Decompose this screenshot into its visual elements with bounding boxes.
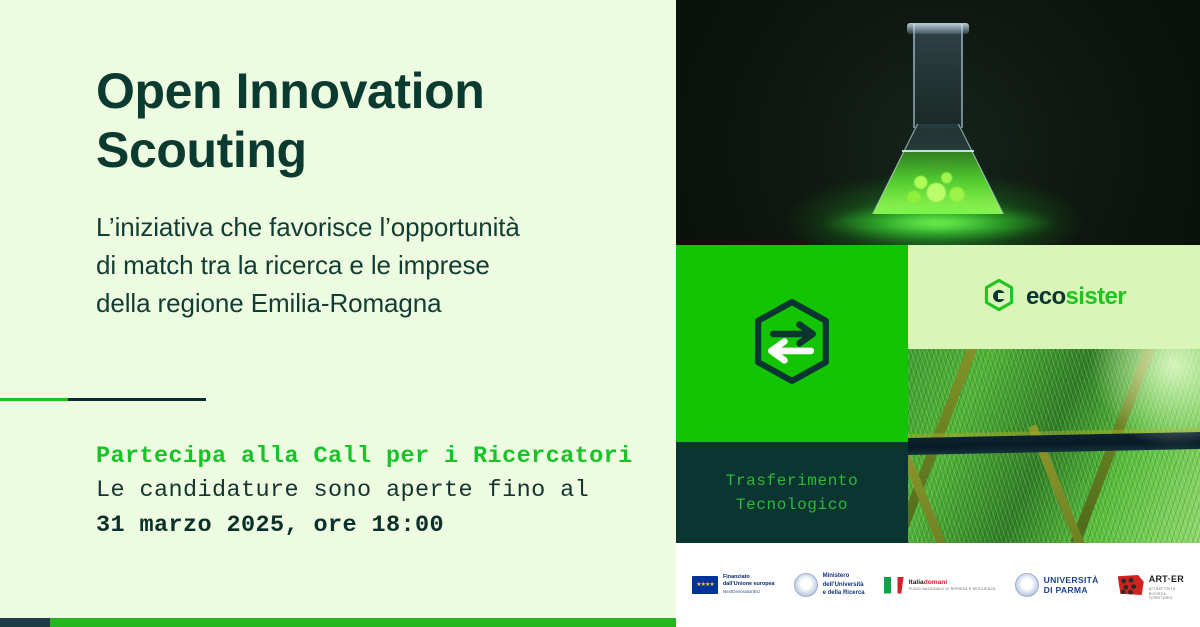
- media-panels-row: Trasferimento Tecnologico: [676, 245, 1200, 543]
- universita-di-parma-logo: UNIVERSITÀ DI PARMA: [1015, 573, 1099, 597]
- italia-domani-subtitle: PIANO NAZIONALE DI RIPRESA E RESILIENZA: [909, 587, 996, 591]
- eu-logo-line-1: Finanziato: [723, 574, 750, 580]
- flask-liquid-surface: [902, 150, 974, 152]
- eu-stars: ★★★★: [692, 576, 718, 594]
- italia-domani-logo: Italiadomani PIANO NAZIONALE DI RIPRESA …: [884, 577, 996, 594]
- category-label-line-1: Trasferimento: [726, 469, 859, 493]
- art-er-text: ART·ER ATTRATTIVITÀ RICERCA TERRITORIO: [1149, 569, 1184, 602]
- media-column-right: ecosister: [908, 245, 1200, 543]
- cta-deadline: 31 marzo 2025, ore 18:00: [96, 509, 633, 543]
- art-er-mark-icon: [1118, 575, 1144, 595]
- leaf-highlight: [1090, 349, 1200, 449]
- art-er-title: ART·ER: [1149, 574, 1184, 584]
- poster-root: Open Innovation Scouting L’iniziativa ch…: [0, 0, 1200, 627]
- brand-logo-block: ecosister: [908, 245, 1200, 349]
- italia-domani-text: Italiadomani PIANO NAZIONALE DI RIPRESA …: [909, 579, 996, 592]
- unipr-logo-line-2: DI PARMA: [1044, 585, 1088, 595]
- section-divider: [0, 398, 206, 401]
- page-subtitle-line-1: L’iniziativa che favorisce l’opportunità: [96, 209, 656, 247]
- european-union-funding-logo: ★★★★ Finanziato dall’Unione europea Next…: [692, 574, 775, 596]
- divider-segment-dark: [68, 398, 206, 401]
- italian-republic-crest-icon: [794, 573, 818, 597]
- page-title: Open Innovation Scouting: [96, 62, 656, 179]
- mur-logo-line-2: dell’Università: [823, 582, 864, 588]
- art-er-logo: ART·ER ATTRATTIVITÀ RICERCA TERRITORIO: [1118, 569, 1184, 602]
- category-label-block: Trasferimento Tecnologico: [676, 442, 908, 543]
- page-subtitle: L’iniziativa che favorisce l’opportunità…: [96, 209, 656, 323]
- funding-logos-footer: ★★★★ Finanziato dall’Unione europea Next…: [676, 543, 1200, 627]
- mur-logo-text: Ministero dell’Università e della Ricerc…: [823, 572, 865, 597]
- eu-logo-text: Finanziato dall’Unione europea NextGener…: [723, 574, 775, 596]
- art-er-mark-dots: [1118, 575, 1144, 595]
- media-column-left: Trasferimento Tecnologico: [676, 245, 908, 543]
- unipr-logo-line-1: UNIVERSITÀ: [1044, 575, 1099, 585]
- ecosister-wordmark: ecosister: [1026, 283, 1126, 311]
- left-text-stack: Open Innovation Scouting L’iniziativa ch…: [0, 0, 676, 323]
- ecosister-wordmark-part-2: sister: [1066, 283, 1126, 310]
- bottom-bar-segment-dark: [0, 618, 50, 627]
- category-label-line-2: Tecnologico: [726, 493, 859, 517]
- unipr-logo-text: UNIVERSITÀ DI PARMA: [1044, 575, 1099, 596]
- left-content-panel: Open Innovation Scouting L’iniziativa ch…: [0, 0, 676, 627]
- exchange-icon-block: [676, 245, 908, 442]
- unipr-crest-icon: [1015, 573, 1039, 597]
- right-media-panel: Trasferimento Tecnologico: [676, 0, 1200, 627]
- eu-logo-line-3: NextGenerationEU: [723, 589, 760, 594]
- exchange-arrows-hexagon-icon: [745, 294, 839, 393]
- art-er-subtitle-line-3: TERRITORIO: [1149, 596, 1184, 601]
- art-er-subtitle: ATTRATTIVITÀ RICERCA TERRITORIO: [1149, 587, 1184, 602]
- ecosister-logo: ecosister: [982, 278, 1126, 317]
- bottom-bar-segment-green: [50, 618, 676, 627]
- call-to-action-block: Partecipa alla Call per i Ricercatori Le…: [96, 440, 633, 543]
- page-subtitle-line-2: di match tra la ricerca e le imprese: [96, 247, 656, 285]
- mur-logo-line-1: Ministero: [823, 573, 850, 579]
- cta-headline: Partecipa alla Call per i Ricercatori: [96, 440, 633, 474]
- divider-segment-green: [0, 398, 68, 401]
- leaf-macro-photo: [908, 349, 1200, 543]
- flask-lip: [907, 23, 969, 34]
- ministero-universita-ricerca-logo: Ministero dell’Università e della Ricerc…: [794, 572, 865, 597]
- italian-flag-icon: [884, 577, 904, 594]
- ecosister-wordmark-part-1: eco: [1026, 283, 1066, 310]
- ecosister-hexagon-e-icon: [982, 278, 1016, 317]
- page-title-line-1: Open Innovation: [96, 62, 656, 121]
- page-subtitle-line-3: della regione Emilia-Romagna: [96, 285, 656, 323]
- flask-algae-culture: [895, 164, 981, 210]
- eu-logo-line-2: dall’Unione europea: [723, 581, 775, 587]
- mur-logo-line-3: e della Ricerca: [823, 590, 865, 596]
- category-label: Trasferimento Tecnologico: [726, 469, 859, 517]
- page-title-line-2: Scouting: [96, 121, 656, 180]
- eu-flag-icon: ★★★★: [692, 576, 718, 594]
- italia-domani-word-2: domani: [924, 579, 947, 586]
- flask-neck: [913, 24, 963, 128]
- hero-flask-photo: [676, 0, 1200, 245]
- italia-domani-word-1: Italia: [909, 579, 924, 586]
- cta-subline: Le candidature sono aperte fino al: [96, 474, 633, 508]
- bottom-accent-bar: [0, 618, 676, 627]
- flask-glow: [823, 206, 1053, 240]
